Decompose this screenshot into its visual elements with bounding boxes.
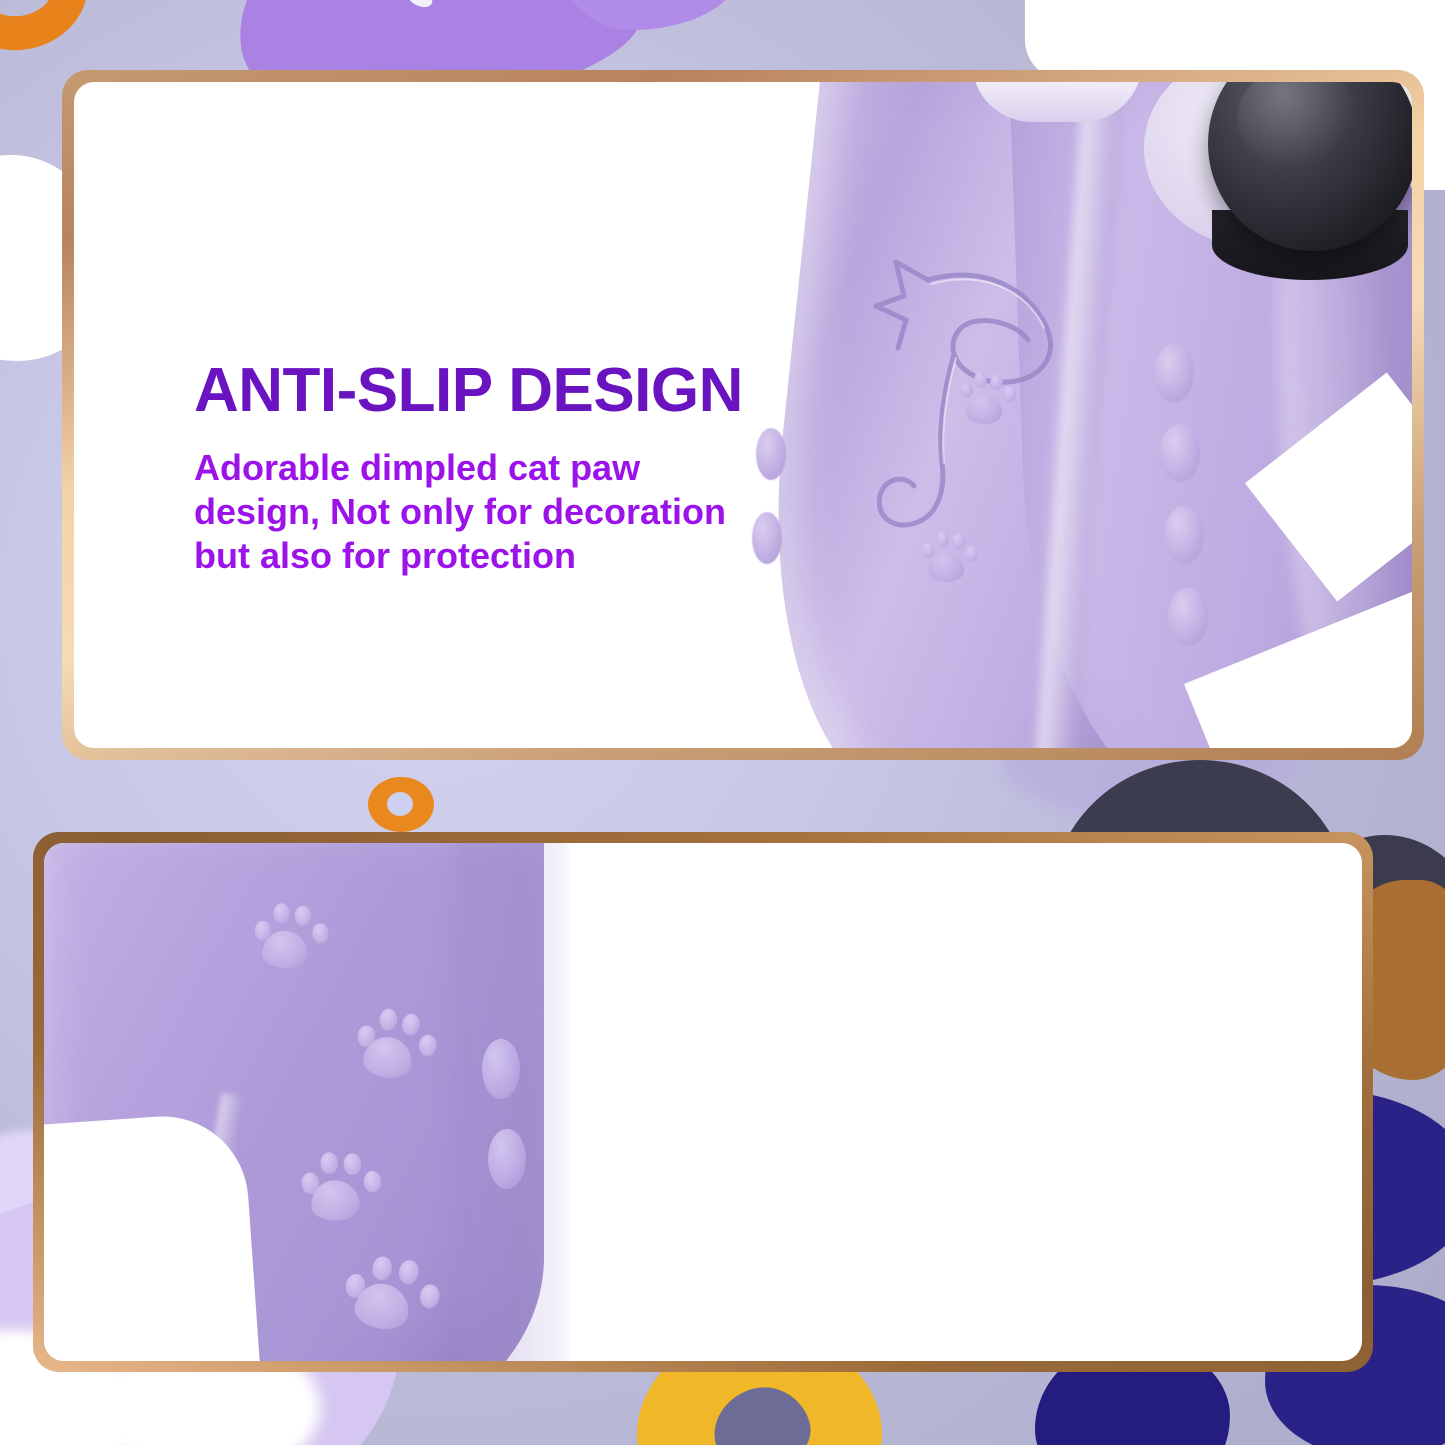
anti-slip-body-line: Adorable dimpled cat paw [194,446,874,490]
controller-handle-edge-shading [459,843,569,1361]
paw-print-icon [252,903,350,1001]
paw-print-icon [297,1146,409,1258]
paw-toe [274,903,290,923]
anti-slip-body: Adorable dimpled cat paw design, Not onl… [194,446,874,578]
anti-slip-body-line: design, Not only for decoration [194,490,874,534]
paw-toe [379,1008,399,1031]
paw-toe [1003,386,1016,402]
anti-slip-headline: ANTI-SLIP DESIGN [194,360,874,422]
orange-donut-divider-decoration [368,777,434,832]
paw-toe [312,923,328,943]
paw-print-icon [958,372,1018,432]
grip-bump [488,1129,526,1189]
anti-slip-body-line: but also for protection [194,534,874,578]
engraved-cat-outline-icon [832,222,1132,642]
feature-card-ergonomic: ERGONOMIC DESIGN The ergonomic grip redu… [33,832,1373,1372]
grip-bump [1160,424,1200,482]
controller-closeup-photo-ergonomic [44,843,569,1361]
paw-toe [295,906,311,926]
paw-toe [960,382,973,398]
white-band-top-right-decoration [1025,0,1445,80]
paw-toe [974,372,987,388]
orange-donut-hole [387,792,413,816]
paw-toe [952,533,965,549]
paw-print-icon [347,1004,463,1120]
paw-toe [398,1259,421,1285]
paw-print-icon [335,1246,467,1361]
anti-slip-text-block: ANTI-SLIP DESIGN Adorable dimpled cat pa… [194,360,874,578]
paw-pad [262,931,307,969]
paw-toe [401,1013,421,1036]
grip-bump [482,1039,520,1099]
paw-toe [965,546,978,562]
feature-card-anti-slip-surface: ANTI-SLIP DESIGN Adorable dimpled cat pa… [74,82,1412,748]
paw-toe [371,1255,394,1281]
grip-bump [1168,588,1208,646]
paw-print-icon [920,530,980,590]
gold-donut-hole [703,1375,821,1445]
paw-toe [418,1283,441,1309]
paw-toe [418,1034,438,1057]
feature-card-ergonomic-surface: ERGONOMIC DESIGN The ergonomic grip redu… [44,843,1362,1361]
paw-toe [363,1170,382,1193]
grip-bump [1154,344,1194,402]
feature-card-anti-slip: ANTI-SLIP DESIGN Adorable dimpled cat pa… [62,70,1424,760]
grip-bump [1164,506,1204,564]
paw-toe [936,531,949,547]
paw-toe [990,374,1003,390]
paw-pad [928,552,964,582]
paw-pad [966,394,1002,424]
paw-toe [320,1152,339,1175]
paw-toe [343,1153,362,1176]
